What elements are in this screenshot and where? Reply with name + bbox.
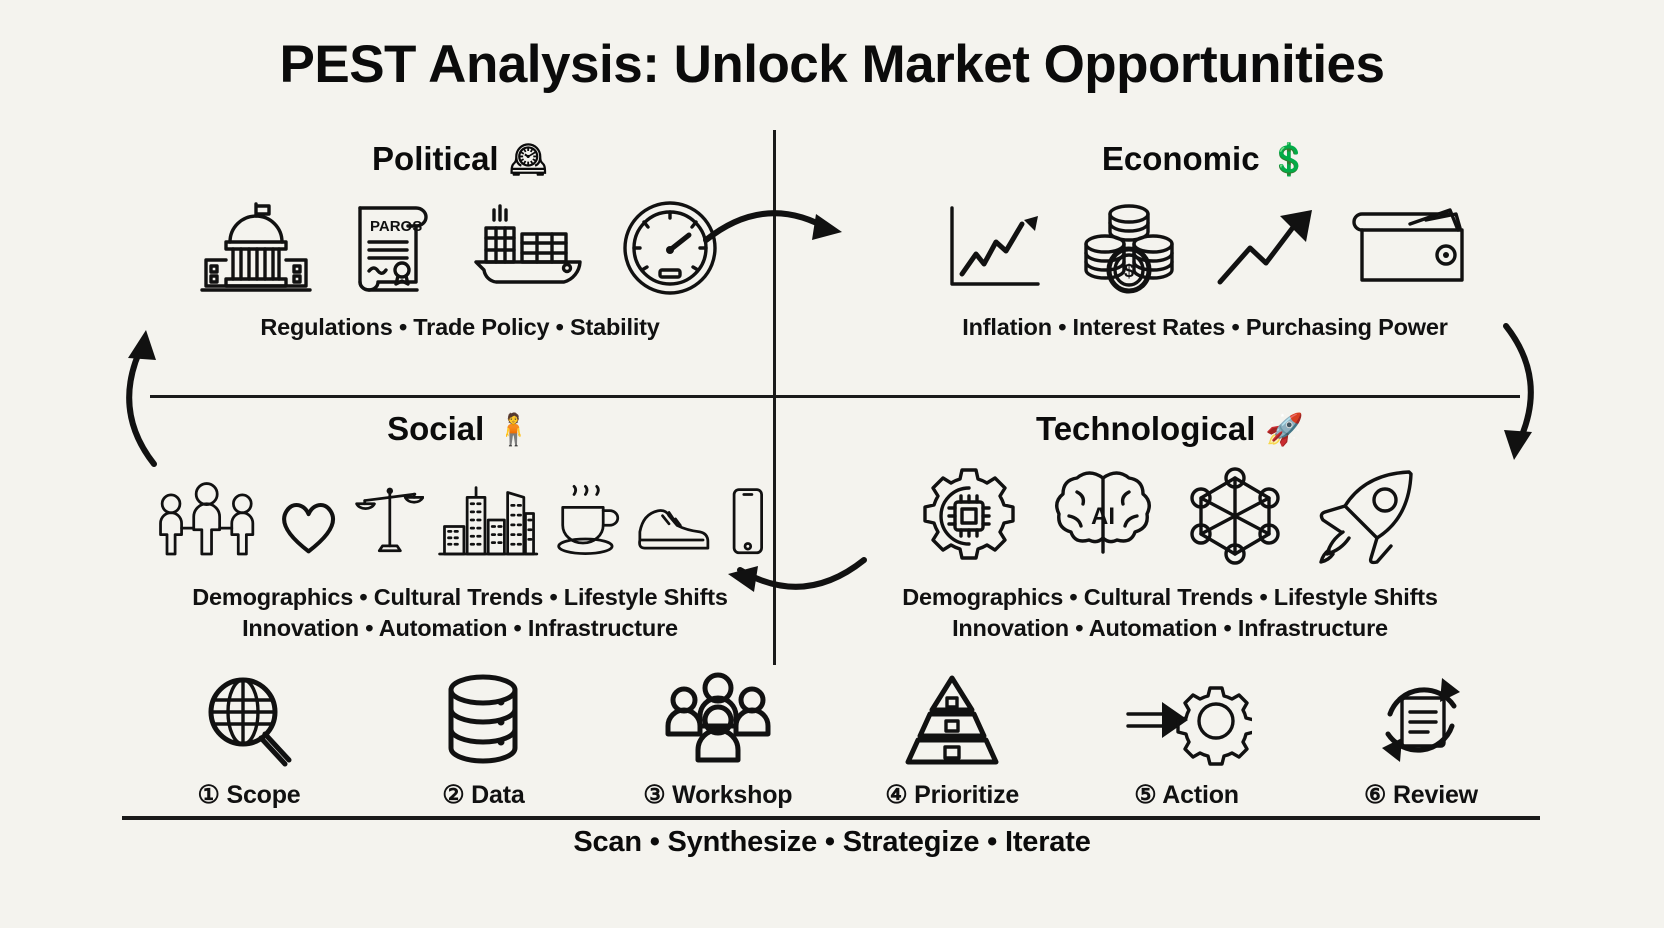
wallet-icon [1352, 198, 1472, 298]
step-prioritize-icon-wrap [902, 672, 1002, 768]
step-prioritize[interactable]: ④ Prioritize [843, 672, 1061, 810]
horizontal-divider [150, 395, 1520, 398]
social-icon-row [150, 458, 770, 568]
step-scope[interactable]: ① Scope [140, 672, 358, 810]
pyramid-icon [902, 672, 1002, 768]
city-skyline-icon [438, 472, 538, 568]
step-scope-label: ① Scope [198, 780, 301, 810]
step-workshop[interactable]: ③ Workshop [609, 672, 827, 810]
quadrant-economic-title: Economic [1102, 140, 1260, 178]
quadrant-economic[interactable]: Economic 💲 $ [895, 136, 1515, 343]
political-icon-row: PAROS [150, 188, 770, 298]
government-building-icon [200, 198, 312, 298]
step-prioritize-label: ④ Prioritize [885, 780, 1019, 810]
economic-caption: Inflation • Interest Rates • Purchasing … [895, 312, 1515, 343]
economic-icon-row: $ [895, 188, 1515, 298]
person-icon: 🧍 [494, 414, 533, 445]
quadrant-technological-heading: Technological 🚀 [860, 406, 1480, 452]
quadrant-social[interactable]: Social 🧍 [150, 406, 770, 645]
social-caption-line1: Demographics • Cultural Trends • Lifesty… [150, 582, 770, 613]
database-icon [439, 672, 527, 768]
rocket-icon [1313, 464, 1425, 568]
scroll-label: PAROS [370, 218, 422, 235]
arrow-social-to-political [100, 320, 170, 475]
heart-icon [277, 478, 340, 568]
footer-tagline: Scan • Synthesize • Strategize • Iterate [0, 826, 1664, 859]
quadrant-technological[interactable]: Technological 🚀 AI [860, 406, 1480, 645]
step-action-icon-wrap [1122, 672, 1252, 768]
quadrant-economic-heading: Economic 💲 [895, 136, 1515, 182]
step-data-icon-wrap [439, 672, 527, 768]
rocket-icon: 🚀 [1265, 414, 1304, 445]
growth-arrow-icon [1210, 198, 1326, 298]
cargo-ship-icon [464, 198, 594, 298]
sneaker-icon [635, 478, 713, 568]
brain-label: AI [1091, 503, 1115, 530]
quadrant-political-heading: Political 🕰 [150, 136, 770, 182]
quadrant-political-title: Political [372, 140, 499, 178]
policy-scroll-icon: PAROS [338, 198, 438, 298]
technological-icon-row: AI [860, 458, 1480, 568]
step-workshop-icon-wrap [658, 672, 778, 768]
quadrant-social-heading: Social 🧍 [150, 406, 770, 452]
step-review-icon-wrap [1368, 672, 1474, 768]
mantel-clock-icon: 🕰 [509, 144, 548, 175]
social-caption: Demographics • Cultural Trends • Lifesty… [150, 582, 770, 645]
infographic-canvas: PEST Analysis: Unlock Market Opportuniti… [0, 0, 1664, 928]
coin-stacks-icon: $ [1074, 198, 1184, 298]
ai-brain-icon: AI [1049, 464, 1157, 568]
page-title: PEST Analysis: Unlock Market Opportuniti… [0, 34, 1664, 95]
step-action-label: ⑤ Action [1134, 780, 1239, 810]
step-data[interactable]: ② Data [374, 672, 592, 810]
technological-caption: Demographics • Cultural Trends • Lifesty… [860, 582, 1480, 645]
arrow-economic-to-technological [1490, 320, 1560, 475]
political-caption: Regulations • Trade Policy • Stability [150, 312, 770, 343]
step-review-label: ⑥ Review [1364, 780, 1478, 810]
arrow-technological-to-social [720, 548, 870, 623]
quadrant-social-title: Social [387, 410, 484, 448]
coffee-cup-icon [553, 476, 621, 568]
network-nodes-icon [1183, 464, 1287, 568]
step-review[interactable]: ⑥ Review [1312, 672, 1530, 810]
footer-divider [122, 816, 1540, 820]
social-caption-line2: Innovation • Automation • Infrastructure [150, 613, 770, 644]
step-scope-icon-wrap [201, 672, 297, 768]
scales-icon [355, 472, 425, 568]
technological-caption-line2: Innovation • Automation • Infrastructure [860, 613, 1480, 644]
people-group-icon [658, 672, 778, 768]
line-chart-icon [938, 198, 1048, 298]
process-steps: ① Scope ② Data [140, 672, 1530, 810]
technological-caption-line1: Demographics • Cultural Trends • Lifesty… [860, 582, 1480, 613]
arrow-political-to-economic [700, 186, 850, 261]
people-group-icon [150, 472, 263, 568]
quadrant-political[interactable]: Political 🕰 PA [150, 136, 770, 343]
quadrant-technological-title: Technological [1036, 410, 1255, 448]
step-action[interactable]: ⑤ Action [1078, 672, 1296, 810]
step-data-label: ② Data [442, 780, 524, 810]
globe-magnifier-icon [201, 672, 297, 768]
gear-chip-icon [915, 464, 1023, 568]
dollar-sign-icon: 💲 [1270, 144, 1309, 175]
svg-text:$: $ [1124, 261, 1134, 281]
refresh-document-icon [1368, 672, 1474, 768]
step-workshop-label: ③ Workshop [643, 780, 792, 810]
arrow-gear-icon [1122, 672, 1252, 768]
